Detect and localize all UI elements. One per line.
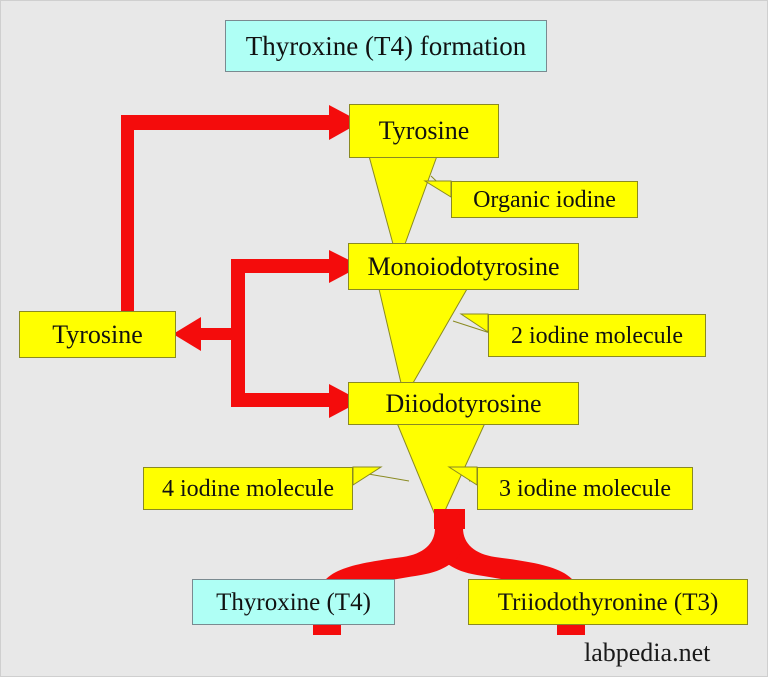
label-2-iodine-molecule[interactable]: 2 iodine molecule xyxy=(488,314,706,357)
diagram-title: Thyroxine (T4) formation xyxy=(246,33,526,60)
node-monoiodotyrosine-label: Monoiodotyrosine xyxy=(367,254,559,280)
node-thyroxine-t4[interactable]: Thyroxine (T4) xyxy=(192,579,395,625)
funnel-tyrosine-to-mono xyxy=(369,156,453,244)
diagram-canvas: Thyroxine (T4) formation Tyrosine Organi… xyxy=(0,0,768,677)
node-tyrosine-top[interactable]: Tyrosine xyxy=(349,104,499,158)
node-tyrosine-left[interactable]: Tyrosine xyxy=(19,311,176,358)
arrow-to-monoiodotyrosine xyxy=(231,250,361,406)
label-4-iodine-molecule-text: 4 iodine molecule xyxy=(162,477,334,501)
label-4-iodine-molecule[interactable]: 4 iodine molecule xyxy=(143,467,353,510)
node-triiodothyronine-t3[interactable]: Triiodothyronine (T3) xyxy=(468,579,748,625)
diagram-title-box: Thyroxine (T4) formation xyxy=(225,20,547,72)
node-triiodothyronine-t3-label: Triiodothyronine (T3) xyxy=(498,590,719,615)
node-diiodotyrosine-label: Diiodotyrosine xyxy=(386,391,542,417)
watermark: labpedia.net xyxy=(584,638,710,668)
label-2-iodine-molecule-text: 2 iodine molecule xyxy=(511,324,683,348)
node-tyrosine-left-label: Tyrosine xyxy=(52,322,143,348)
label-organic-iodine-text: Organic iodine xyxy=(473,188,616,212)
label-3-iodine-molecule-text: 3 iodine molecule xyxy=(499,477,671,501)
node-diiodotyrosine[interactable]: Diiodotyrosine xyxy=(348,382,579,425)
funnel-mono-to-di xyxy=(379,289,490,383)
label-3-iodine-molecule[interactable]: 3 iodine molecule xyxy=(477,467,693,510)
label-organic-iodine[interactable]: Organic iodine xyxy=(451,181,638,218)
node-monoiodotyrosine[interactable]: Monoiodotyrosine xyxy=(348,243,579,290)
node-thyroxine-t4-label: Thyroxine (T4) xyxy=(216,590,371,615)
node-tyrosine-top-label: Tyrosine xyxy=(379,118,470,144)
arrow-to-diiodotyrosine xyxy=(231,384,361,418)
